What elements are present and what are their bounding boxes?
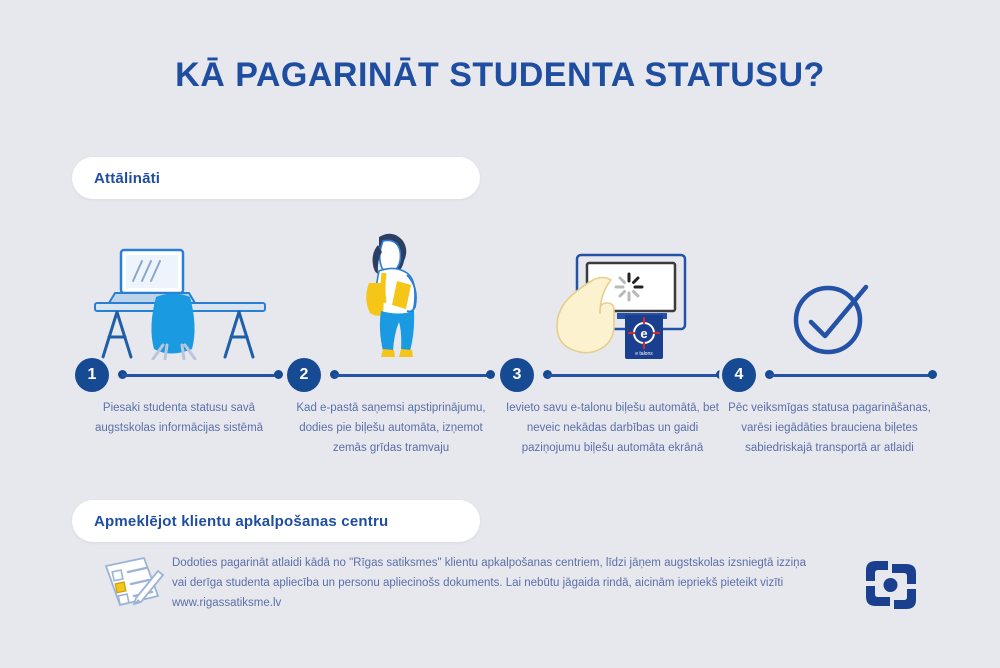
step-3-text: Ievieto savu e-talonu biļešu automātā, b… [500,398,725,458]
check-circle-icon [780,225,880,360]
section-banner-remote: Attālināti [72,157,480,199]
connector-dot-right [486,370,495,379]
step-4-number: 4 [722,358,756,392]
step-2: 2 Kad e-pastā saņemsi apstiprinājumu, do… [287,225,495,458]
connector-bar [769,374,933,377]
step-3-illustration: e e talons [500,225,725,360]
footer-icon [96,552,168,612]
svg-text:e talons: e talons [635,351,653,357]
step-3-marker-row: 3 [500,360,725,390]
step-1-text: Piesaki studenta statusu savā augstskola… [75,398,283,438]
step-3-connector [543,358,725,392]
step-4-text: Pēc veiksmīgas statusa pagarināšanas, va… [722,398,937,458]
section-banner-remote-label: Attālināti [72,170,160,187]
step-1: 1 Piesaki studenta statusu savā augstsko… [75,225,283,438]
section-banner-service-center: Apmeklējot klientu apkalpošanas centru [72,500,480,542]
desk-laptop-chair-icon [87,225,272,360]
step-3-number: 3 [500,358,534,392]
connector-dot-right [928,370,937,379]
step-1-connector [118,358,283,392]
connector-bar [547,374,721,377]
step-2-marker-row: 2 [287,360,495,390]
student-with-backpack-icon [331,225,451,360]
hand-ticket-machine-etalons-icon: e e talons [525,225,700,360]
infographic-page: KĀ PAGARINĀT STUDENTA STATUSU? Attālināt… [0,0,1000,668]
step-1-marker-row: 1 [75,360,283,390]
svg-text:e: e [640,326,647,341]
step-2-connector [330,358,495,392]
steps-container: 1 Piesaki studenta statusu savā augstsko… [0,225,1000,490]
step-1-illustration [75,225,283,360]
connector-bar [122,374,279,377]
connector-dot-right [274,370,283,379]
page-title: KĀ PAGARINĀT STUDENTA STATUSU? [0,56,1000,95]
step-2-text: Kad e-pastā saņemsi apstiprinājumu, dodi… [287,398,495,458]
step-2-number: 2 [287,358,321,392]
section-banner-service-center-label: Apmeklējot klientu apkalpošanas centru [72,513,388,530]
step-4-illustration [722,225,937,360]
document-checklist-pen-icon [96,552,168,612]
connector-bar [334,374,491,377]
step-1-number: 1 [75,358,109,392]
step-4-connector [765,358,937,392]
step-4-marker-row: 4 [722,360,937,390]
rigas-satiksme-logo-icon [862,556,920,614]
footer-note: Dodoties pagarināt atlaidi kādā no "Rīga… [172,553,812,613]
step-4: 4 Pēc veiksmīgas statusa pagarināšanas, … [722,225,937,458]
step-2-illustration [287,225,495,360]
brand-logo [862,556,920,614]
step-3: e e talons 3 [500,225,725,458]
